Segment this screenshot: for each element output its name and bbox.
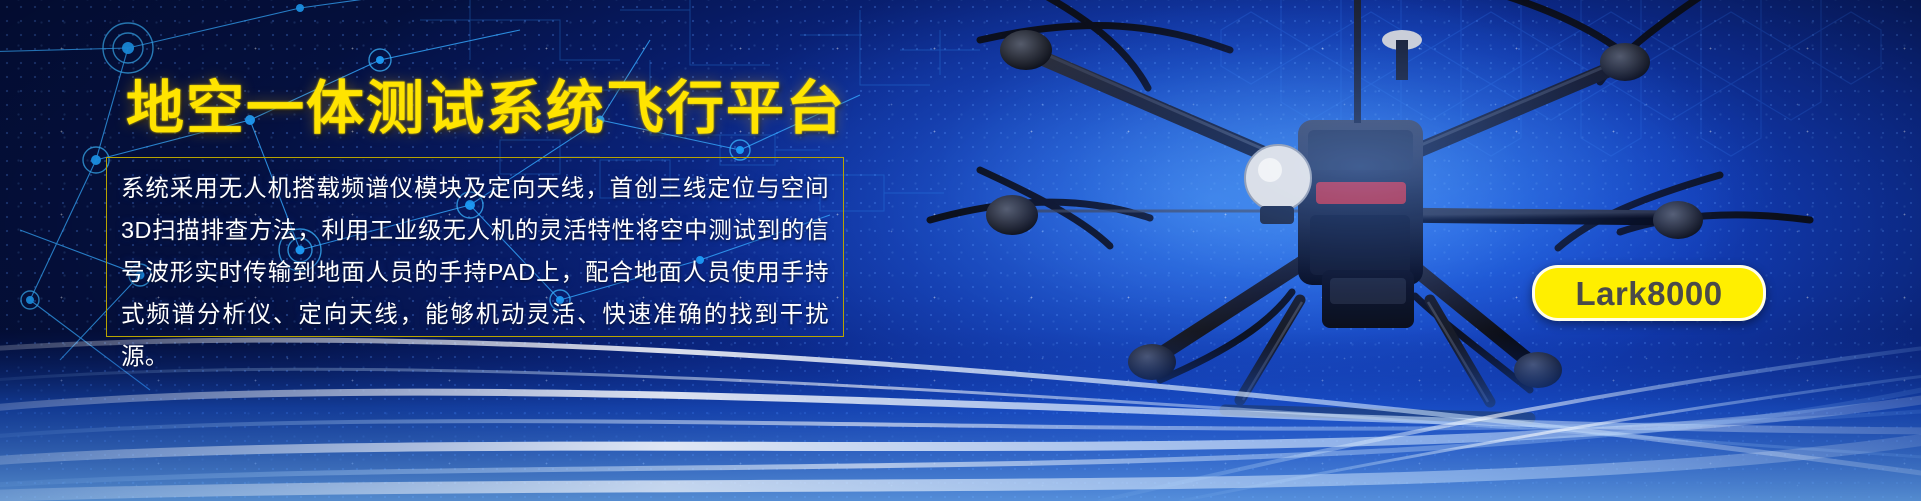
description-box: 系统采用无人机搭载频谱仪模块及定向天线，首创三线定位与空间3D扫描排查方法，利用… [106,157,844,337]
page-title: 地空一体测试系统飞行平台 [126,80,846,138]
product-banner: 地空一体测试系统飞行平台 系统采用无人机搭载频谱仪模块及定向天线，首创三线定位与… [0,0,1921,501]
product-badge-label: Lark8000 [1575,277,1722,310]
product-badge: Lark8000 [1532,265,1766,321]
description-text: 系统采用无人机搭载频谱仪模块及定向天线，首创三线定位与空间3D扫描排查方法，利用… [121,167,829,377]
